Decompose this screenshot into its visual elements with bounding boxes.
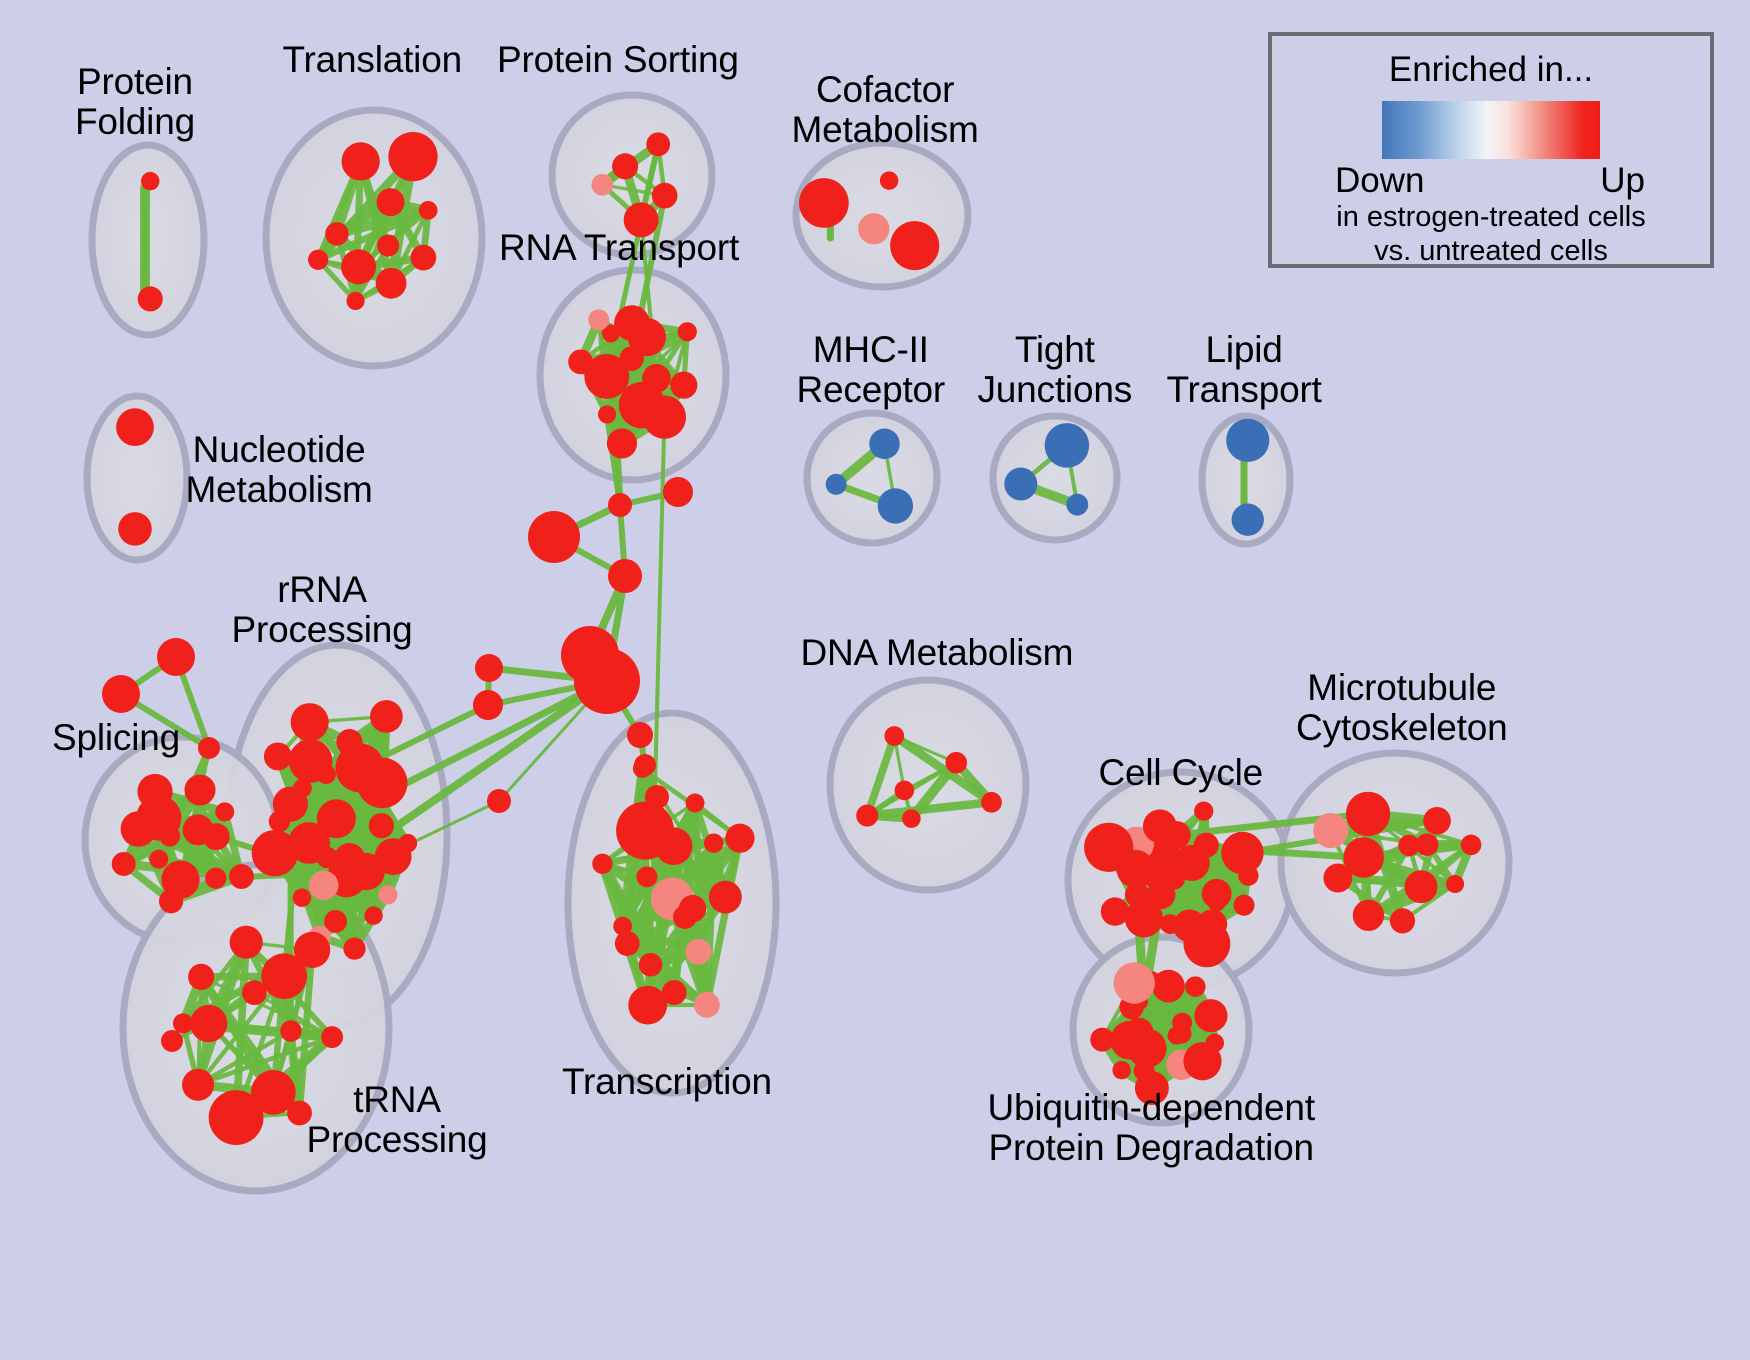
network-node[interactable] xyxy=(264,742,292,770)
network-node[interactable] xyxy=(357,758,408,809)
network-node[interactable] xyxy=(1184,920,1231,967)
network-node[interactable] xyxy=(607,428,637,458)
network-node[interactable] xyxy=(591,174,613,196)
network-node[interactable] xyxy=(215,802,234,821)
network-node[interactable] xyxy=(1066,494,1088,516)
legend-low-label: Down xyxy=(1335,161,1424,201)
network-node[interactable] xyxy=(291,703,329,741)
network-node[interactable] xyxy=(608,493,632,517)
network-node[interactable] xyxy=(102,675,140,713)
network-node[interactable] xyxy=(826,474,847,495)
cluster-hull-dna-metabolism xyxy=(830,680,1026,890)
network-node[interactable] xyxy=(475,654,503,682)
network-node[interactable] xyxy=(643,395,686,438)
legend-subtitle-line-2: vs. untreated cells xyxy=(1272,235,1710,269)
network-node[interactable] xyxy=(636,866,657,887)
network-node[interactable] xyxy=(1405,870,1438,903)
legend-endpoints: Down Up xyxy=(1341,159,1641,201)
network-node[interactable] xyxy=(646,132,670,156)
network-node[interactable] xyxy=(884,726,904,746)
network-node[interactable] xyxy=(280,1020,301,1041)
network-node[interactable] xyxy=(229,864,254,889)
network-node[interactable] xyxy=(1232,503,1264,535)
network-node[interactable] xyxy=(1135,1071,1169,1105)
network-node[interactable] xyxy=(678,322,697,341)
network-node[interactable] xyxy=(378,885,397,904)
legend-title: Enriched in... xyxy=(1272,50,1710,90)
network-node[interactable] xyxy=(1112,1061,1130,1079)
network-node[interactable] xyxy=(614,305,650,341)
cluster-hull-mhc-ii-receptor xyxy=(807,413,937,543)
network-node[interactable] xyxy=(118,512,152,546)
legend-subtitle-line-1: in estrogen-treated cells xyxy=(1272,201,1710,235)
network-node[interactable] xyxy=(184,774,215,805)
color-scale-bar xyxy=(1382,101,1600,159)
network-node[interactable] xyxy=(799,178,849,228)
network-node[interactable] xyxy=(856,804,878,826)
network-node[interactable] xyxy=(369,813,394,838)
network-node[interactable] xyxy=(149,850,168,869)
network-node[interactable] xyxy=(157,638,195,676)
network-node[interactable] xyxy=(1461,835,1482,856)
network-node[interactable] xyxy=(1238,865,1258,885)
network-node[interactable] xyxy=(289,739,333,783)
network-node[interactable] xyxy=(574,648,640,714)
network-node[interactable] xyxy=(1194,999,1227,1032)
network-node[interactable] xyxy=(624,202,659,237)
network-node[interactable] xyxy=(205,868,226,889)
network-node[interactable] xyxy=(1114,962,1155,1003)
network-node[interactable] xyxy=(342,142,380,180)
network-node[interactable] xyxy=(138,286,163,311)
network-node[interactable] xyxy=(1416,833,1439,856)
network-node[interactable] xyxy=(376,268,407,299)
network-node[interactable] xyxy=(1202,879,1232,909)
network-node[interactable] xyxy=(287,1101,312,1126)
network-node[interactable] xyxy=(161,1030,183,1052)
network-node[interactable] xyxy=(694,992,720,1018)
network-node[interactable] xyxy=(612,153,638,179)
network-node[interactable] xyxy=(1185,976,1206,997)
network-node[interactable] xyxy=(327,805,349,827)
network-node[interactable] xyxy=(182,1069,214,1101)
network-node[interactable] xyxy=(293,889,311,907)
network-node[interactable] xyxy=(1090,1028,1114,1052)
network-node[interactable] xyxy=(679,895,706,922)
network-node[interactable] xyxy=(364,906,382,924)
network-node[interactable] xyxy=(634,754,656,776)
network-node[interactable] xyxy=(419,201,438,220)
network-node[interactable] xyxy=(1390,908,1415,933)
network-node[interactable] xyxy=(188,964,214,990)
network-node[interactable] xyxy=(1346,792,1390,836)
cluster-hull-microtubule-cytoskeleton xyxy=(1281,753,1509,973)
network-node[interactable] xyxy=(1045,423,1090,468)
network-node[interactable] xyxy=(1084,823,1133,872)
network-node[interactable] xyxy=(1143,809,1177,843)
network-node[interactable] xyxy=(615,931,640,956)
network-node[interactable] xyxy=(1160,914,1180,934)
network-node[interactable] xyxy=(945,752,967,774)
network-node[interactable] xyxy=(685,939,711,965)
network-node[interactable] xyxy=(704,834,724,854)
network-node[interactable] xyxy=(895,781,915,801)
network-node[interactable] xyxy=(568,349,593,374)
network-node[interactable] xyxy=(878,488,913,523)
network-node[interactable] xyxy=(141,172,159,190)
network-node[interactable] xyxy=(370,700,403,733)
network-node[interactable] xyxy=(880,171,898,189)
network-node[interactable] xyxy=(1110,1021,1149,1060)
network-node[interactable] xyxy=(112,852,136,876)
network-node[interactable] xyxy=(473,690,503,720)
network-figure: Protein FoldingTranslationProtein Sortin… xyxy=(0,0,1750,1360)
network-node[interactable] xyxy=(652,183,678,209)
network-node[interactable] xyxy=(869,429,900,460)
network-node[interactable] xyxy=(190,1005,227,1042)
network-node[interactable] xyxy=(709,881,742,914)
network-node[interactable] xyxy=(388,132,437,181)
network-node[interactable] xyxy=(858,213,889,244)
network-node[interactable] xyxy=(294,932,330,968)
network-node[interactable] xyxy=(346,292,364,310)
network-node[interactable] xyxy=(1101,897,1129,925)
network-node[interactable] xyxy=(1172,1024,1192,1044)
network-node[interactable] xyxy=(336,729,362,755)
network-node[interactable] xyxy=(121,811,157,847)
network-node[interactable] xyxy=(1233,895,1254,916)
network-node[interactable] xyxy=(592,854,612,874)
network-node[interactable] xyxy=(137,774,172,809)
network-node[interactable] xyxy=(670,372,697,399)
network-node[interactable] xyxy=(1194,802,1213,821)
network-node[interactable] xyxy=(230,926,263,959)
network-node[interactable] xyxy=(902,809,921,828)
network-node[interactable] xyxy=(203,823,230,850)
network-node[interactable] xyxy=(273,787,308,822)
network-node[interactable] xyxy=(198,737,220,759)
network-node[interactable] xyxy=(627,722,653,748)
network-node[interactable] xyxy=(487,789,511,813)
network-node[interactable] xyxy=(663,477,693,507)
network-node[interactable] xyxy=(645,785,669,809)
network-node[interactable] xyxy=(209,1090,264,1145)
network-node[interactable] xyxy=(325,222,348,245)
network-node[interactable] xyxy=(639,953,663,977)
network-node[interactable] xyxy=(341,249,376,284)
network-node[interactable] xyxy=(309,871,338,900)
network-node[interactable] xyxy=(116,408,154,446)
network-node[interactable] xyxy=(308,250,328,270)
network-node[interactable] xyxy=(588,309,609,330)
network-node[interactable] xyxy=(528,511,580,563)
network-node[interactable] xyxy=(598,405,616,423)
network-node[interactable] xyxy=(628,986,667,1025)
network-node[interactable] xyxy=(1323,864,1352,893)
network-node[interactable] xyxy=(1446,875,1464,893)
legend-panel: Enriched in... Down Up in estrogen-treat… xyxy=(1268,32,1714,268)
network-node[interactable] xyxy=(343,937,365,959)
network-node[interactable] xyxy=(725,824,754,853)
network-node[interactable] xyxy=(173,1013,193,1033)
network-node[interactable] xyxy=(159,889,183,913)
network-node[interactable] xyxy=(608,559,642,593)
legend-high-label: Up xyxy=(1600,161,1645,201)
network-node[interactable] xyxy=(1353,900,1384,931)
network-node[interactable] xyxy=(616,802,674,860)
network-node[interactable] xyxy=(321,1026,343,1048)
network-node[interactable] xyxy=(399,834,418,853)
network-node[interactable] xyxy=(1125,899,1163,937)
network-node[interactable] xyxy=(1313,813,1348,848)
network-node[interactable] xyxy=(1205,1034,1224,1053)
network-node[interactable] xyxy=(252,830,298,876)
network-node[interactable] xyxy=(1004,467,1037,500)
network-node[interactable] xyxy=(1423,807,1451,835)
network-node[interactable] xyxy=(890,221,939,270)
network-node[interactable] xyxy=(1194,833,1219,858)
network-node[interactable] xyxy=(377,234,399,256)
network-node[interactable] xyxy=(981,792,1002,813)
network-node[interactable] xyxy=(686,793,705,812)
network-node[interactable] xyxy=(411,245,437,271)
network-node[interactable] xyxy=(377,188,405,216)
network-node[interactable] xyxy=(1226,419,1269,462)
